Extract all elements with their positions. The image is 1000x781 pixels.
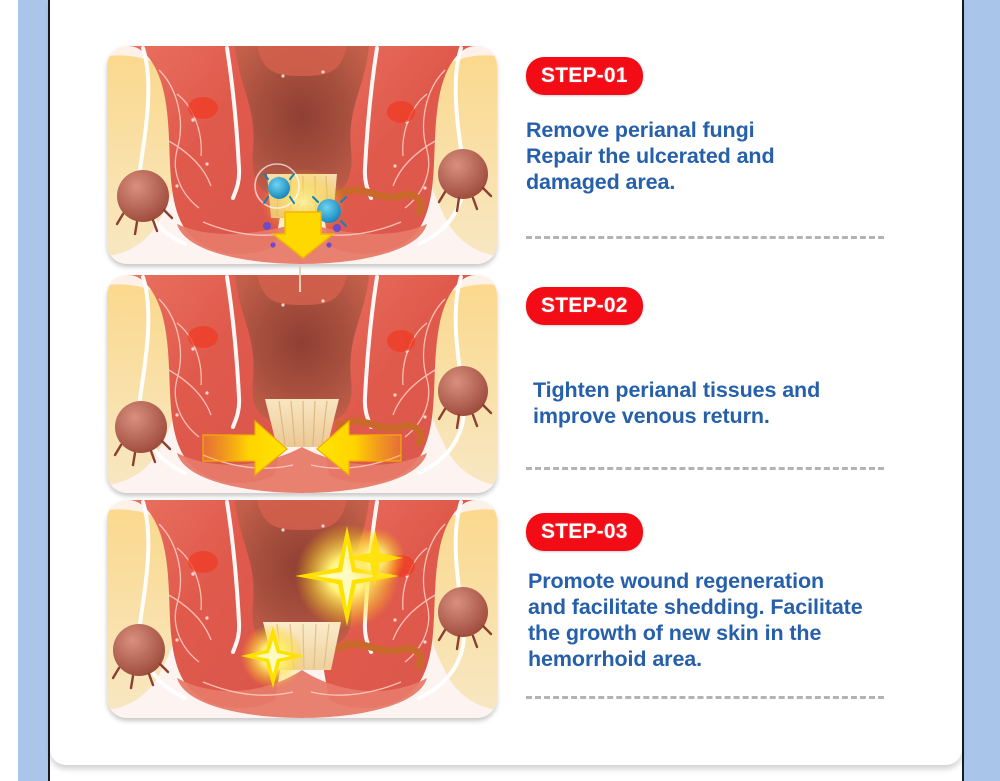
step-illustration-1 bbox=[107, 46, 497, 264]
step-badge: STEP-01 bbox=[526, 57, 643, 95]
right-rail-edge-line bbox=[962, 0, 964, 781]
panel-connector-tick bbox=[299, 266, 301, 292]
step-description: Promote wound regeneration and facilitat… bbox=[528, 568, 962, 672]
sparkle-lower-icon bbox=[241, 624, 305, 688]
step-badge: STEP-02 bbox=[526, 287, 643, 325]
anatomy-illustration-icon bbox=[107, 500, 497, 718]
anatomy-illustration-icon bbox=[107, 46, 497, 264]
step-description: Tighten perianal tissues and improve ven… bbox=[533, 377, 962, 429]
step-illustration-3 bbox=[107, 500, 497, 718]
left-blue-rail bbox=[18, 0, 48, 781]
step-divider bbox=[526, 696, 884, 699]
step-row: STEP-02 Tighten perianal tissues and imp… bbox=[50, 275, 962, 493]
step-row: STEP-03 Promote wound regeneration and f… bbox=[50, 500, 962, 718]
right-blue-rail bbox=[964, 0, 1000, 781]
anatomy-illustration-icon bbox=[107, 275, 497, 493]
page-root: STEP-01 Remove perianal fungi Repair the… bbox=[0, 0, 1000, 781]
step-divider bbox=[526, 467, 884, 470]
step-badge: STEP-03 bbox=[526, 513, 643, 551]
step-row: STEP-01 Remove perianal fungi Repair the… bbox=[50, 46, 962, 264]
step-text-column: STEP-03 Promote wound regeneration and f… bbox=[497, 500, 962, 699]
sparkle-small-icon bbox=[345, 528, 405, 588]
step-text-column: STEP-02 Tighten perianal tissues and imp… bbox=[497, 275, 962, 470]
step-text-column: STEP-01 Remove perianal fungi Repair the… bbox=[497, 46, 962, 239]
step-description: Remove perianal fungi Repair the ulcerat… bbox=[526, 117, 962, 195]
step-divider bbox=[526, 236, 884, 239]
step-illustration-2 bbox=[107, 275, 497, 493]
content-card: STEP-01 Remove perianal fungi Repair the… bbox=[50, 0, 962, 765]
